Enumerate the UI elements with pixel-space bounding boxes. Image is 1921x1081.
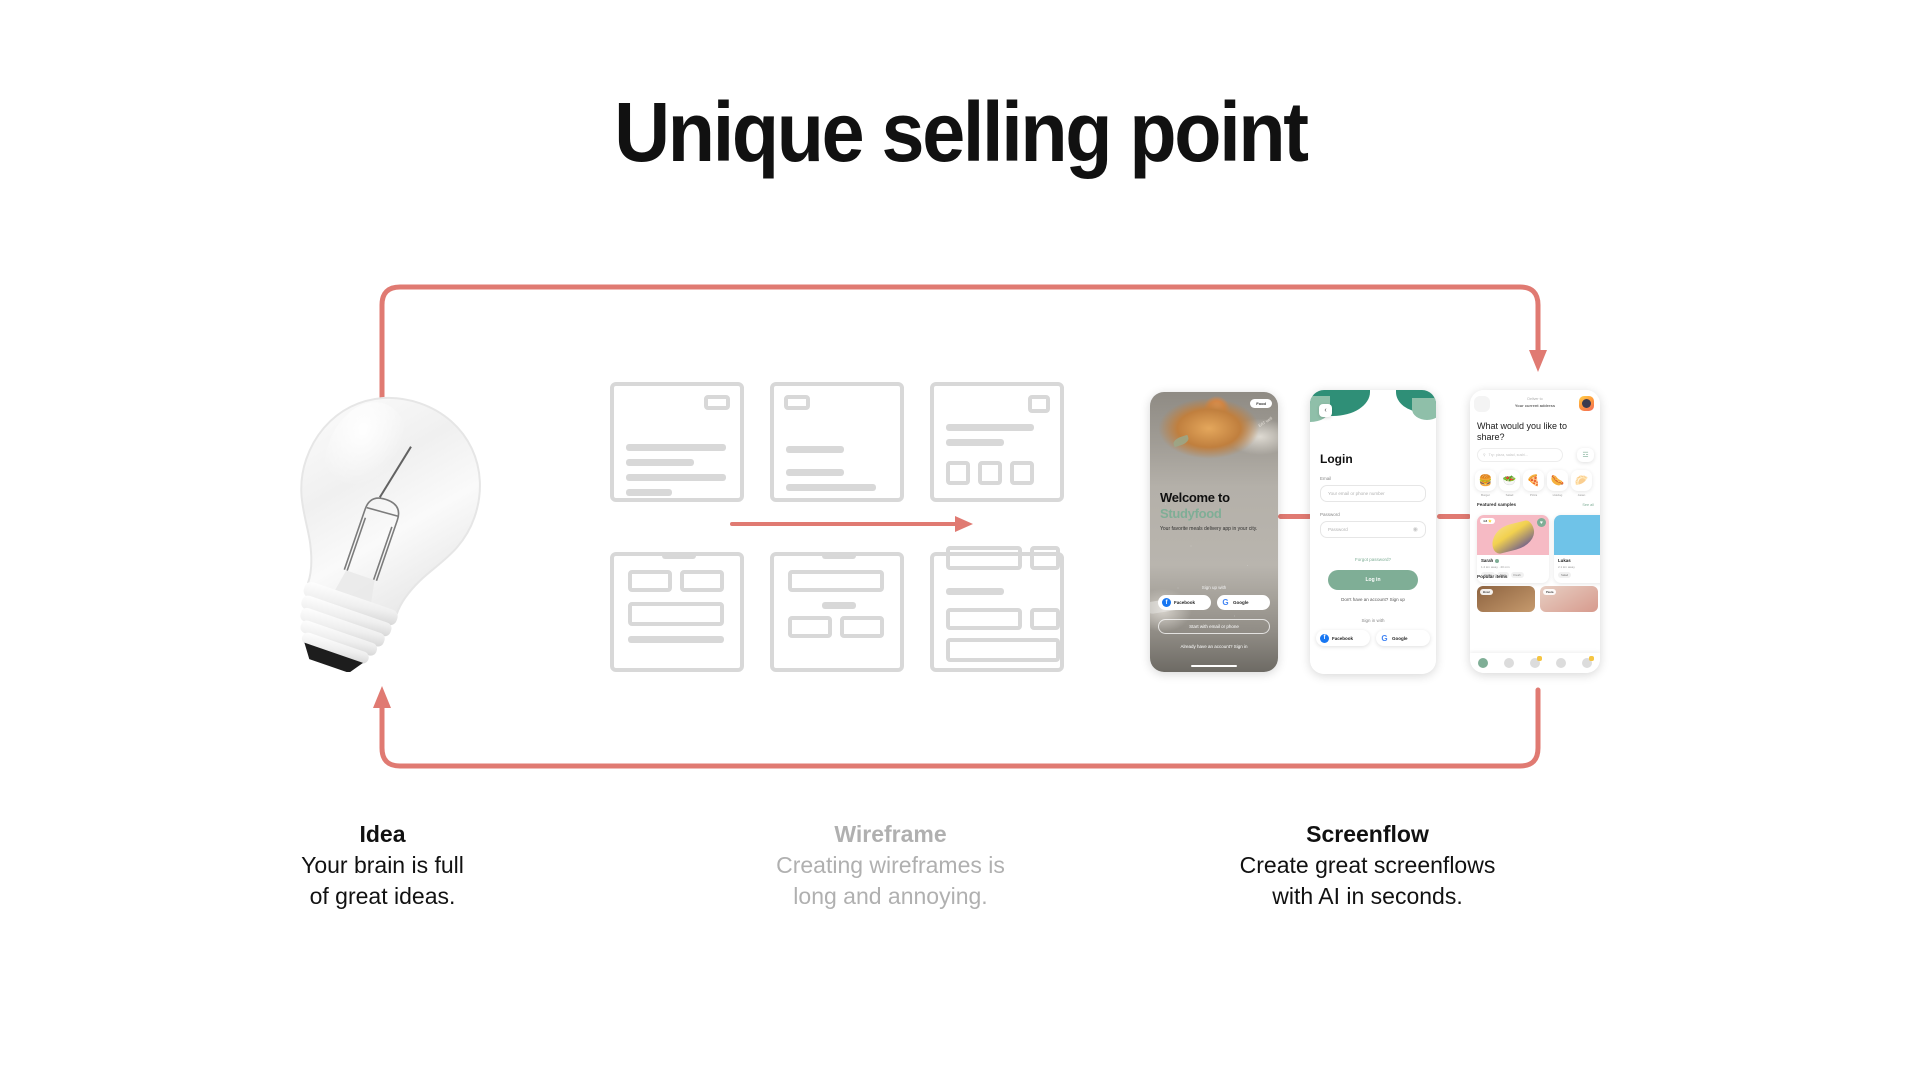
nav-home-icon[interactable]	[1478, 658, 1488, 668]
caption-screenflow: Screenflow Create great screenflows with…	[1185, 820, 1550, 911]
social-buttons-row: f Facebook G Google	[1158, 595, 1270, 610]
wireframe-line	[626, 459, 694, 466]
caption-screenflow-title: Screenflow	[1185, 820, 1550, 849]
caption-idea-title: Idea	[230, 820, 535, 849]
caption-wireframe: Wireframe Creating wireframes is long an…	[713, 820, 1068, 911]
welcome-heading-line1: Welcome to	[1160, 490, 1230, 505]
wireframe-line	[662, 552, 696, 559]
card-body: Lukas 2.1 km away Salad	[1554, 555, 1600, 583]
google-icon: G	[1380, 634, 1389, 643]
email-placeholder: Your email or phone number	[1328, 491, 1385, 496]
avatar-face	[1582, 399, 1591, 408]
popular-row: Bowl Pasta	[1477, 586, 1600, 612]
filter-icon[interactable]: ☲	[1577, 448, 1594, 462]
wireframe-line	[626, 489, 672, 496]
category-item[interactable]: 🍔 Burger	[1475, 470, 1496, 497]
back-icon[interactable]: ‹	[1319, 404, 1332, 417]
wireframe-line	[786, 446, 844, 453]
verified-icon	[1495, 559, 1499, 563]
return-arrowhead	[373, 686, 391, 708]
forward-arrowhead	[1529, 350, 1547, 372]
email-phone-button[interactable]: Start with email or phone	[1158, 619, 1270, 634]
welcome-brand-name: Studyfood	[1160, 506, 1222, 521]
featured-card[interactable]: 4.8 ⭐ ♥ Sarah 1.2 km away · 20 min Vegan…	[1477, 515, 1549, 583]
slide-canvas: Unique selling point	[0, 0, 1921, 1081]
wireframe-tile	[978, 461, 1002, 485]
category-label: Hotdog	[1547, 493, 1568, 497]
forgot-password-link[interactable]: Forgot password?	[1310, 557, 1436, 562]
caption-idea-line1: Your brain is full	[230, 850, 535, 880]
see-all-link[interactable]: See all	[1582, 503, 1594, 507]
wireframe-line	[626, 474, 726, 481]
signin-with-label: Sign in with	[1310, 618, 1436, 623]
category-row: 🍔 Burger 🥗 Salad 🍕 Pizza 🌭 Hotdog 🥟 Asia…	[1475, 470, 1600, 497]
blob-decor	[1412, 398, 1436, 420]
category-item[interactable]: 🌭 Hotdog	[1547, 470, 1568, 497]
password-placeholder: Password	[1328, 527, 1348, 532]
phone-mockup-welcome[interactable]: Food EAT well Welcome to Studyfood Your …	[1150, 392, 1278, 672]
badge	[1537, 656, 1542, 661]
pizza-icon: 🍕	[1523, 470, 1544, 491]
wireframe-tile	[628, 570, 672, 592]
wireframe-line	[946, 424, 1034, 431]
facebook-label: Facebook	[1332, 636, 1353, 641]
category-item[interactable]: 🥟 Asian	[1571, 470, 1592, 497]
category-label: Pizza	[1523, 493, 1544, 497]
facebook-icon: f	[1320, 634, 1329, 643]
wireframe-line	[822, 552, 856, 559]
card-author-name: Sarah	[1481, 558, 1493, 563]
caption-wireframe-line2: long and annoying.	[713, 881, 1068, 911]
wireframe-tile	[1030, 608, 1060, 630]
signup-with-label: Sign up with	[1150, 585, 1278, 590]
wireframe-line	[626, 444, 726, 451]
wireframe-tile	[788, 616, 832, 638]
card-meta: 1.2 km away · 20 min	[1481, 565, 1545, 569]
burger-icon: 🍔	[1475, 470, 1496, 491]
password-label: Password	[1320, 512, 1340, 517]
wireframe-tile	[946, 546, 1022, 570]
rating-badge: 4.8 ⭐	[1480, 518, 1495, 524]
welcome-subtitle: Your favorite meals delivery app in your…	[1160, 525, 1260, 533]
google-icon: G	[1221, 598, 1230, 607]
category-label: Burger	[1475, 493, 1496, 497]
card-chips: Salad	[1558, 572, 1600, 578]
facebook-label: Facebook	[1174, 600, 1195, 605]
caption-screenflow-line1: Create great screenflows	[1185, 850, 1550, 880]
wireframe-line	[628, 636, 724, 643]
search-input[interactable]: ⚲ Try: pizza, salad, sushi...	[1477, 448, 1563, 462]
wireframe-line	[946, 588, 1004, 595]
wireframe-card-3	[930, 382, 1064, 502]
photo-badge: Food	[1250, 399, 1272, 408]
wireframe-thumb	[784, 395, 810, 410]
eye-icon[interactable]: ◉	[1413, 526, 1418, 533]
search-icon: ⚲	[1483, 453, 1486, 457]
phone-connector-1	[1278, 514, 1312, 519]
chip: Fresh	[1511, 572, 1524, 578]
section-featured-title: Featured samples	[1477, 502, 1516, 507]
caption-idea-line2: of great ideas.	[230, 881, 535, 911]
wireframe-thumb	[1028, 395, 1050, 413]
hotdog-icon: 🌭	[1547, 470, 1568, 491]
nav-explore-icon[interactable]	[1504, 658, 1514, 668]
category-item[interactable]: 🍕 Pizza	[1523, 470, 1544, 497]
card-author: Lukas	[1558, 558, 1600, 563]
facebook-icon: f	[1162, 598, 1171, 607]
wireframe-card-6	[930, 552, 1064, 672]
wireframe-line	[822, 602, 856, 609]
bottom-nav	[1470, 653, 1600, 673]
asian-icon: 🥟	[1571, 470, 1592, 491]
page-title: Unique selling point	[77, 90, 1844, 174]
login-title: Login	[1320, 452, 1353, 466]
wireframe-line	[786, 484, 876, 491]
facebook-button[interactable]: f Facebook	[1316, 630, 1370, 646]
google-button[interactable]: G Google	[1376, 630, 1430, 646]
nav-profile-icon[interactable]	[1582, 658, 1592, 668]
search-placeholder: Try: pizza, salad, sushi...	[1489, 453, 1528, 457]
wireframe-tile	[1010, 461, 1034, 485]
avatar[interactable]	[1579, 396, 1594, 411]
wireframe-tile	[788, 570, 884, 592]
popular-label: Pasta	[1543, 589, 1556, 595]
wireframe-line	[946, 439, 1004, 446]
wireframe-tile	[840, 616, 884, 638]
lightbulb-idea-image	[262, 382, 492, 672]
phone-connector-2	[1437, 514, 1471, 519]
home-indicator	[1191, 665, 1237, 667]
popular-label: Bowl	[1480, 589, 1493, 595]
card-meta: 2.1 km away	[1558, 565, 1600, 569]
google-label: Google	[1392, 636, 1408, 641]
signup-link[interactable]: Don't have an account? Sign up	[1310, 597, 1436, 602]
password-field[interactable]: Password ◉	[1320, 521, 1426, 538]
wireframe-thumb	[704, 395, 730, 410]
nav-favorites-icon[interactable]	[1556, 658, 1566, 668]
wireframe-to-screenflow-arrow	[730, 515, 975, 533]
caption-wireframe-line1: Creating wireframes is	[713, 850, 1068, 880]
salad-icon: 🥗	[1499, 470, 1520, 491]
wireframe-card-4	[610, 552, 744, 672]
card-image: 4.8 ⭐ ♥	[1477, 515, 1549, 555]
phone-mockup-feed[interactable]: Deliver to Your current address What wou…	[1470, 390, 1600, 673]
caption-idea: Idea Your brain is full of great ideas.	[230, 820, 535, 911]
phone-mockup-login[interactable]: ‹ Login Email Your email or phone number…	[1310, 390, 1436, 674]
card-author: Sarah	[1481, 558, 1545, 563]
category-label: Asian	[1571, 493, 1592, 497]
wireframe-tile	[628, 602, 724, 626]
section-popular-title: Popular items	[1477, 574, 1507, 579]
favorite-icon[interactable]: ♥	[1537, 518, 1546, 527]
wireframe-tile	[946, 638, 1060, 662]
wireframe-card-5	[770, 552, 904, 672]
wireframe-tile	[946, 608, 1022, 630]
nav-basket-icon[interactable]	[1530, 658, 1540, 668]
caption-screenflow-line2: with AI in seconds.	[1185, 881, 1550, 911]
wireframe-tile	[680, 570, 724, 592]
featured-card[interactable]: Lukas 2.1 km away Salad	[1554, 515, 1600, 583]
badge	[1589, 656, 1594, 661]
wireframe-card-2	[770, 382, 904, 502]
card-author-name: Lukas	[1558, 558, 1571, 563]
captions-row: Idea Your brain is full of great ideas. …	[0, 820, 1921, 960]
banana-illustration	[1489, 519, 1538, 555]
social-buttons-row: f Facebook G Google	[1316, 630, 1430, 646]
facebook-button[interactable]: f Facebook	[1158, 595, 1211, 610]
google-button[interactable]: G Google	[1217, 595, 1270, 610]
chip: Salad	[1558, 572, 1571, 578]
google-label: Google	[1233, 600, 1249, 605]
wireframe-tile	[946, 461, 970, 485]
email-label: Email	[1320, 476, 1331, 481]
caption-wireframe-title: Wireframe	[713, 820, 1068, 849]
category-label: Salad	[1499, 493, 1520, 497]
feed-heading: What would you like to share?	[1477, 421, 1587, 444]
wireframe-tile	[1030, 546, 1060, 570]
category-item[interactable]: 🥗 Salad	[1499, 470, 1520, 497]
feedback-loop-return	[382, 690, 1538, 766]
email-field[interactable]: Your email or phone number	[1320, 485, 1426, 502]
signin-link[interactable]: Already have an account? Sign in	[1150, 644, 1278, 649]
popular-item[interactable]: Pasta	[1540, 586, 1598, 612]
card-image	[1554, 515, 1600, 555]
wireframe-line	[786, 469, 844, 476]
login-submit-button[interactable]: Log in	[1328, 570, 1418, 590]
popular-item[interactable]: Bowl	[1477, 586, 1535, 612]
featured-card-row: 4.8 ⭐ ♥ Sarah 1.2 km away · 20 min Vegan…	[1477, 515, 1600, 583]
wireframe-card-1	[610, 382, 744, 502]
